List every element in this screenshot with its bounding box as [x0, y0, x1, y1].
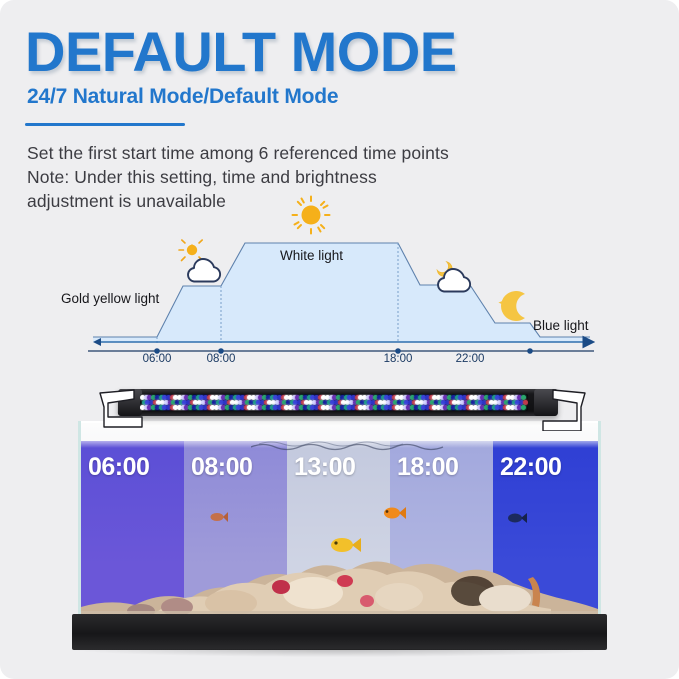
tick-label-1800: 18:00: [384, 353, 413, 365]
page-title: DEFAULT MODE: [25, 24, 457, 80]
tank-time-segment: 13:00: [287, 441, 390, 617]
tick-label-0600: 06:00: [143, 353, 172, 365]
light-schedule-chart: Gold yellow light White light Blue light…: [0, 190, 679, 375]
tank-time-segment: 08:00: [184, 441, 287, 617]
water-ripple-icon: [251, 441, 451, 452]
chart-svg: [0, 190, 679, 375]
tick-label-0800: 08:00: [207, 353, 236, 365]
tick-dot-end: [527, 348, 533, 354]
fish-icon: [380, 503, 406, 523]
blue-light-label: Blue light: [533, 318, 589, 333]
tank-time-segment: 18:00: [390, 441, 493, 617]
tank-stand: [72, 614, 607, 650]
white-light-label: White light: [280, 248, 343, 263]
tank-time-segment: 22:00: [493, 441, 598, 617]
moon-star-icon: [498, 291, 525, 321]
sun-cloud-icon: [179, 240, 220, 282]
tick-label-2200: 22:00: [456, 353, 485, 365]
tank-time-label: 06:00: [88, 453, 149, 482]
tank-shadow: [70, 649, 609, 657]
fish-icon: [505, 509, 527, 527]
gold-yellow-light-label: Gold yellow light: [61, 291, 159, 306]
tank-water: 06:0008:0013:0018:0022:00: [81, 441, 598, 617]
mounting-bracket-left-icon: [98, 387, 218, 429]
sun-icon: [293, 197, 330, 234]
mounting-bracket-right-icon: [473, 387, 593, 431]
tank-time-label: 08:00: [191, 453, 252, 482]
page-subtitle: 24/7 Natural Mode/Default Mode: [27, 85, 338, 109]
fish-icon: [206, 508, 228, 526]
aquarium-photo: 06:0008:0013:0018:0022:00: [78, 381, 601, 650]
title-divider: [25, 123, 185, 126]
product-infographic: DEFAULT MODE 24/7 Natural Mode/Default M…: [0, 0, 679, 679]
tank-time-label: 22:00: [500, 453, 561, 482]
tank-time-segment: 06:00: [81, 441, 184, 617]
fish-icon: [327, 533, 361, 557]
moon-cloud-icon: [437, 262, 470, 292]
tank-time-label: 18:00: [397, 453, 458, 482]
tank-time-label: 13:00: [294, 453, 355, 482]
